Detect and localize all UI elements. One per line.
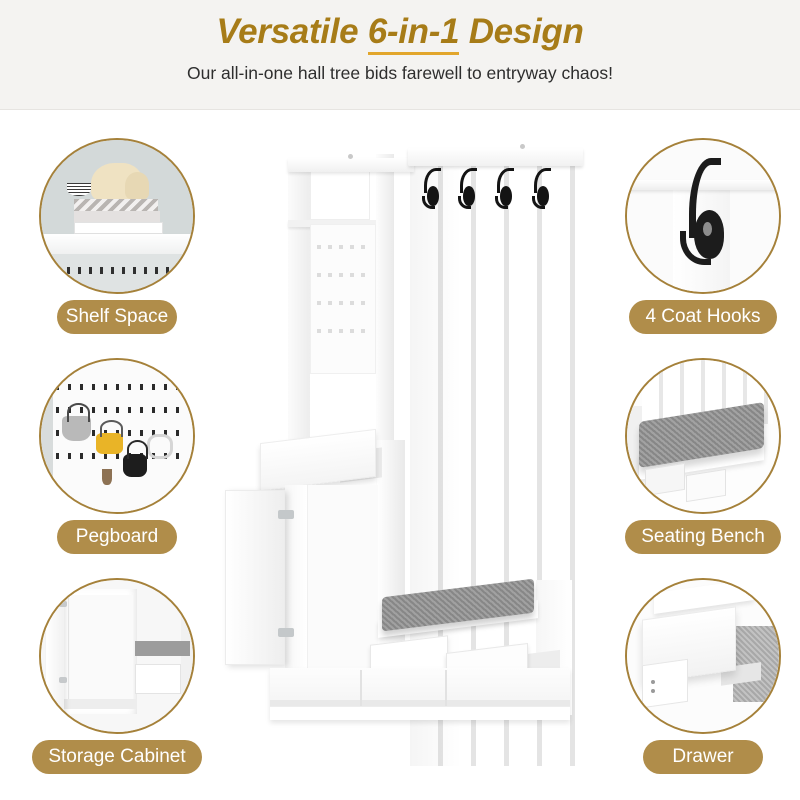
feature-callout-drawer: Drawer	[608, 578, 798, 774]
product-upper-drawer	[260, 429, 376, 491]
pegboard-photo	[41, 360, 193, 512]
product-base-front	[270, 706, 570, 720]
feature-label-seating-bench: Seating Bench	[625, 520, 781, 554]
feature-label-coat-hooks: 4 Coat Hooks	[629, 300, 776, 334]
pegboard-slot-row	[317, 273, 371, 277]
feature-label-pegboard: Pegboard	[57, 520, 177, 554]
product-hero-image	[230, 140, 590, 720]
feature-callout-storage-cabinet: Storage Cabinet	[22, 578, 212, 774]
feature-image-pegboard	[39, 358, 195, 514]
coat-hook-photo	[627, 140, 779, 292]
product-upper-rail-left	[288, 158, 414, 172]
feature-callout-pegboard: Pegboard	[22, 358, 212, 554]
feature-label-drawer: Drawer	[643, 740, 763, 774]
seating-bench-photo	[627, 360, 779, 512]
feature-label-shelf-space: Shelf Space	[57, 300, 177, 334]
product-cabinet-door	[225, 490, 285, 665]
screw-icon	[348, 154, 353, 159]
feature-image-shelf-space	[39, 138, 195, 294]
product-cabinet-interior	[307, 485, 378, 670]
product-hook-rail	[408, 148, 583, 166]
feature-image-drawer	[625, 578, 781, 734]
feature-callout-shelf-space: Shelf Space	[22, 138, 212, 334]
coat-hook-icon	[422, 168, 444, 208]
pegboard-slot-row	[317, 245, 371, 249]
feature-label-storage-cabinet: Storage Cabinet	[32, 740, 201, 774]
page-title: Versatile 6-in-1 Design	[0, 12, 800, 52]
drawer-photo	[627, 580, 779, 732]
shelf-photo	[41, 140, 193, 292]
feature-image-coat-hooks	[625, 138, 781, 294]
coat-hook-icon	[495, 168, 517, 208]
screw-icon	[520, 144, 525, 149]
title-text-post: Design	[459, 12, 583, 51]
title-text-pre: Versatile	[216, 12, 367, 51]
feature-image-storage-cabinet	[39, 578, 195, 734]
hinge-icon	[278, 510, 294, 519]
coat-hook-icon	[458, 168, 480, 208]
feature-callout-seating-bench: Seating Bench	[608, 358, 798, 554]
feature-image-seating-bench	[625, 358, 781, 514]
hinge-icon	[278, 628, 294, 637]
page-subtitle: Our all-in-one hall tree bids farewell t…	[0, 63, 800, 84]
coat-hook-icon	[532, 168, 554, 208]
cubby-divider	[445, 670, 447, 706]
pegboard-slot-row	[317, 301, 371, 305]
product-pegboard	[310, 224, 376, 374]
pegboard-slot-row	[317, 329, 371, 333]
feature-callout-coat-hooks: 4 Coat Hooks	[608, 138, 798, 334]
cubby-divider	[360, 670, 362, 706]
header-banner: Versatile 6-in-1 Design Our all-in-one h…	[0, 0, 800, 110]
title-text-emphasis: 6-in-1	[368, 12, 460, 55]
storage-cabinet-photo	[41, 580, 193, 732]
